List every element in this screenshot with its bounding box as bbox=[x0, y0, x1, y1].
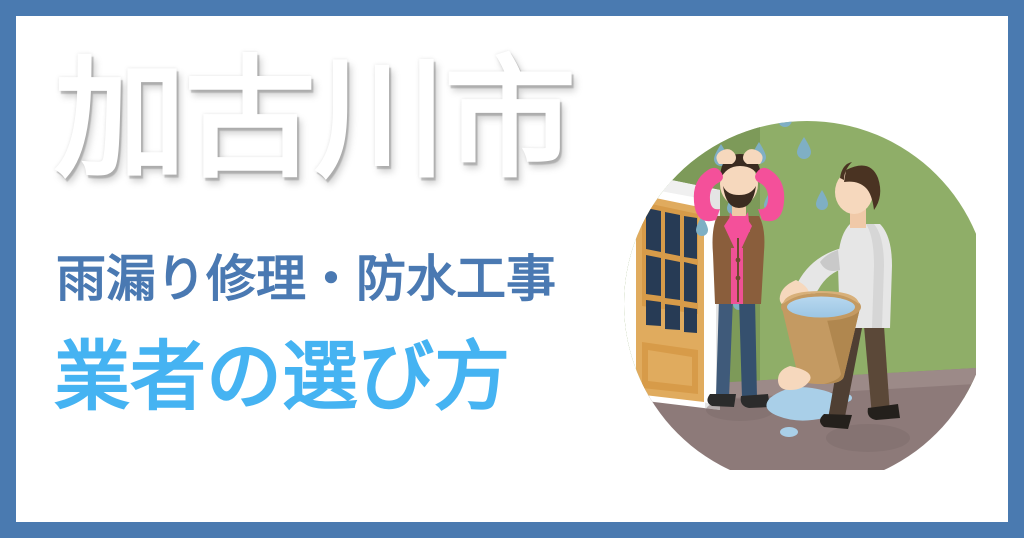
banner-inner-card: 加古川市 雨漏り修理・防水工事 業者の選び方 bbox=[16, 16, 1008, 522]
puddle-drop bbox=[780, 427, 798, 437]
bucket-water bbox=[787, 297, 855, 318]
drop-icon bbox=[778, 105, 792, 127]
back-shoe bbox=[820, 414, 852, 429]
vest-button bbox=[736, 258, 741, 263]
left-shoe bbox=[707, 394, 736, 407]
headline-text-block: 加古川市 雨漏り修理・防水工事 業者の選び方 bbox=[16, 16, 676, 522]
right-leg bbox=[739, 298, 757, 398]
cta-subtitle: 業者の選び方 bbox=[54, 340, 510, 416]
banner-root: 加古川市 雨漏り修理・防水工事 業者の選び方 bbox=[0, 0, 1024, 538]
page-title: 加古川市 bbox=[54, 54, 694, 186]
right-shoe bbox=[741, 394, 770, 408]
vest-button bbox=[736, 276, 741, 281]
drop-icon bbox=[739, 103, 753, 125]
service-subtitle: 雨漏り修理・防水工事 bbox=[56, 254, 556, 304]
